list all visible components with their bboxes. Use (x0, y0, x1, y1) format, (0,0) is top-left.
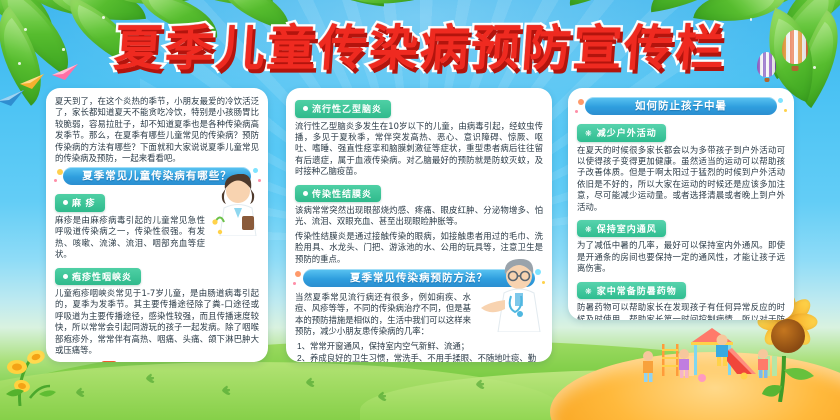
right-text-1: 为了减低中暑的几率，最好可以保持室内外通风。即使是开通条的房间也要保持一定的通风… (577, 240, 785, 274)
right-tag-0: ❋减少户外活动 (577, 124, 666, 142)
right-tag-2: ❋家中常备防暑药物 (577, 282, 686, 300)
left-tag-1: 疱疹性咽峡炎 (55, 268, 141, 286)
flower-icon: ❋ (585, 129, 593, 138)
step-item: 养成良好的卫生习惯，常洗手、不用手揉眼、不随地吐痰、勤换衣、晒衣被、婴幼儿奶瓶定… (297, 353, 543, 362)
mid-text-0: 流行性乙型脑炎多发生在10岁以下的儿童，由病毒引起，经蚊虫传播，多见于夏秋季，常… (295, 121, 543, 178)
orange-mound-decoration (550, 352, 840, 420)
page-title: 夏季儿童传染病预防宣传栏 (112, 24, 727, 73)
mid-text-1: 该病常常突然出现眼部烧灼感、疼痛、眼皮红肿、分泌物增多、怕光、流泪、双眼充血、甚… (295, 205, 543, 228)
nurse-illustration (208, 174, 266, 236)
poster-root: 夏季儿童传染病预防宣传栏 (0, 0, 840, 420)
title-block: 夏季儿童传染病预防宣传栏 (0, 24, 840, 73)
male-doctor-illustration (475, 256, 551, 332)
prevention-steps-list: 常常开窗通风，保持室内空气新鲜、流通； 养成良好的卫生习惯，常洗手、不用手揉眼、… (295, 341, 543, 362)
step-item: 常常开窗通风，保持室内空气新鲜、流通； (297, 341, 543, 353)
flower-icon: ❋ (585, 225, 593, 234)
bullet-icon (63, 200, 68, 205)
card-right: 如何防止孩子中暑 ❋减少户外活动 在夏天的时候很多家长都会以为多带孩子到户外活动… (568, 88, 794, 320)
right-text-0: 在夏天的时候很多家长都会以为多带孩子到户外活动可以使得孩子变得更加健康。虽然适当… (577, 145, 785, 213)
bullet-icon (63, 274, 68, 279)
flower-icon: ❋ (585, 287, 593, 296)
right-banner: 如何防止孩子中暑 (577, 97, 785, 115)
mid-tag-0: 流行性乙型脑炎 (295, 100, 391, 118)
mid-tag-1: 传染性结膜炎 (295, 185, 381, 203)
clipboard-shield-illustration (55, 358, 163, 363)
right-text-2: 防暑药物可以帮助家长在发现孩子有任何异常反应的时候及时使用，帮助家长第一时间控制… (577, 302, 785, 320)
left-text-0: 麻疹是由麻疹病毒引起的儿童常见急性呼吸道传染病之一，传染性很强。有发热、咳嗽、流… (55, 215, 205, 261)
right-tag-1: ❋保持室内通风 (577, 220, 666, 238)
left-intro-text: 夏天到了，在这个炎热的季节，小朋友最爱的冷饮活泛了，家长都知道夏天不能贪吃冷饮，… (55, 96, 259, 164)
right-banner-label: 如何防止孩子中暑 (577, 97, 785, 115)
bullet-icon (303, 191, 308, 196)
card-left: 夏天到了，在这个炎热的季节，小朋友最爱的冷饮活泛了，家长都知道夏天不能贪吃冷饮，… (46, 88, 268, 362)
left-tag-0: 麻 疹 (55, 194, 105, 212)
left-text-1: 儿童疱疹咽峡炎常见于1-7岁儿童，是由肠道病毒引起的，夏季为发季节。其主要传播途… (55, 288, 259, 356)
bullet-icon (303, 106, 308, 111)
card-middle: 流行性乙型脑炎 流行性乙型脑炎多发生在10岁以下的儿童，由病毒引起，经蚊虫传播，… (286, 88, 552, 362)
mid-lead-text: 当然夏季常见流行病还有很多，例如痢疾、水痘、风疹等等，不同的传染病治疗不同，但是… (295, 292, 471, 338)
